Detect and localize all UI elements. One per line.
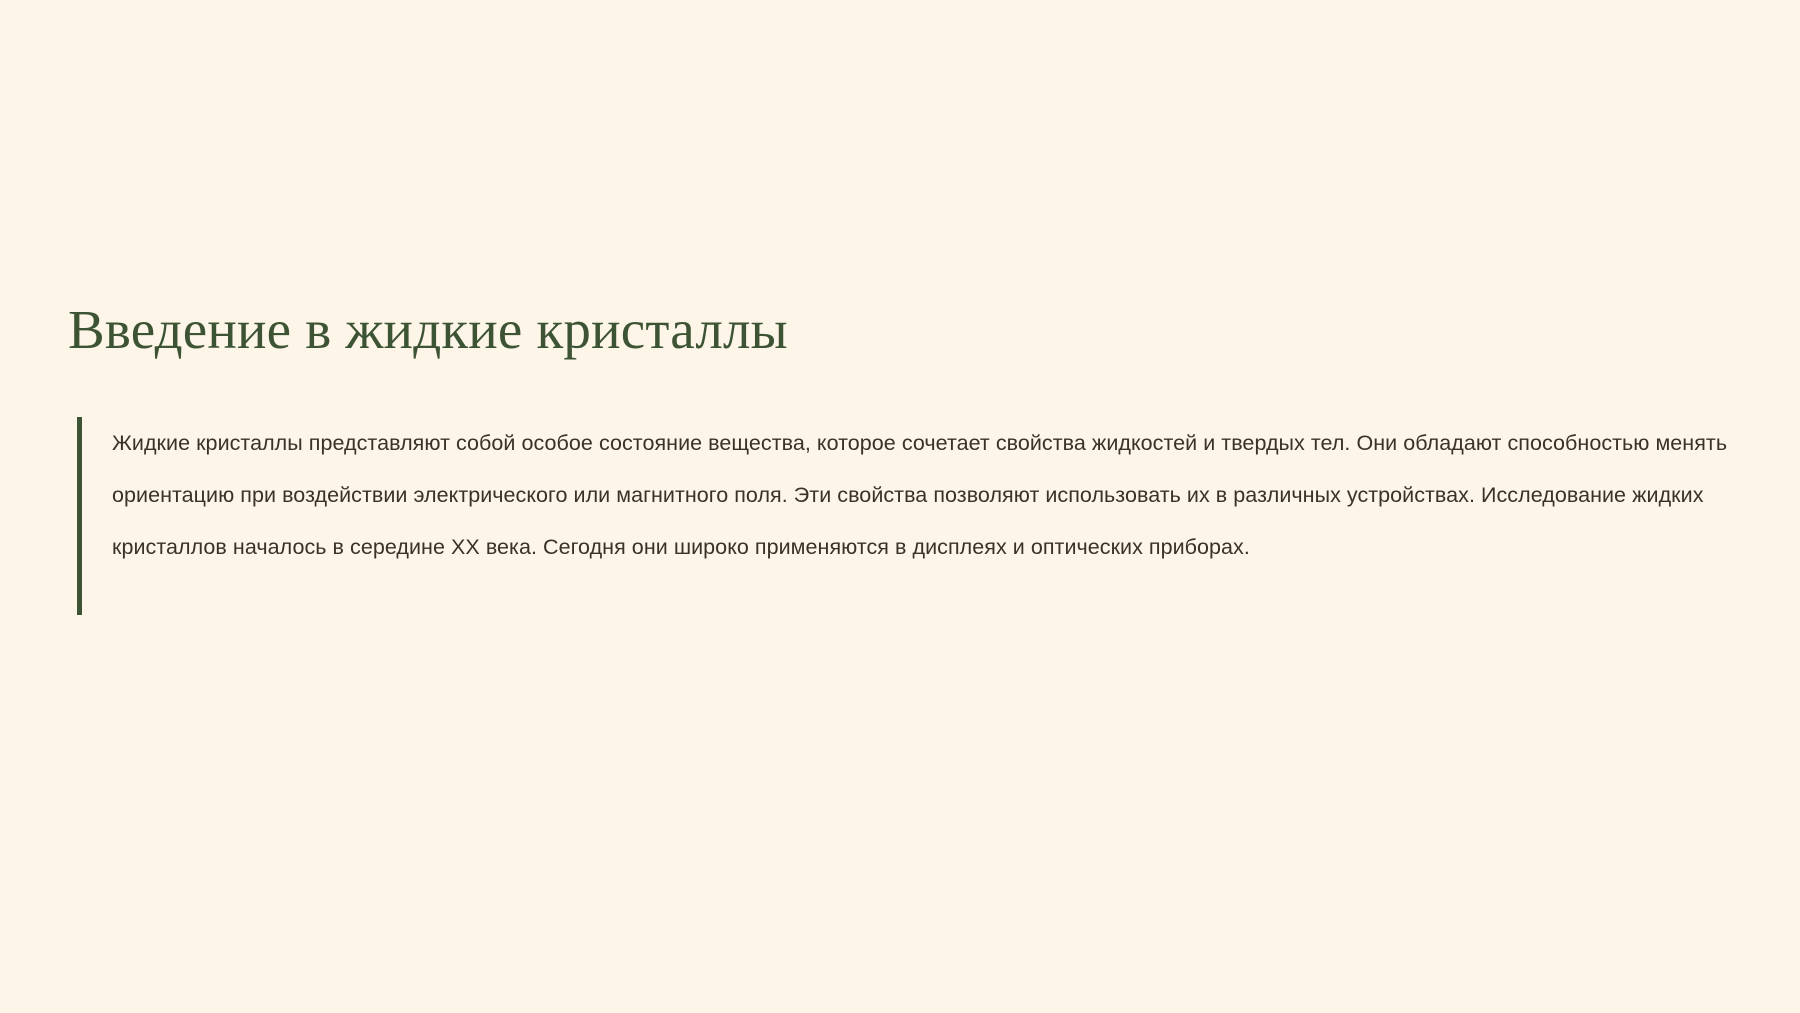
slide-content-block: Введение в жидкие кристаллы Жидкие крист…	[68, 298, 1728, 573]
accent-bar	[77, 417, 82, 615]
page-title: Введение в жидкие кристаллы	[68, 298, 1728, 363]
slide-canvas: Введение в жидкие кристаллы Жидкие крист…	[0, 0, 1800, 1013]
body-section: Жидкие кристаллы представляют собой особ…	[68, 417, 1728, 573]
body-paragraph: Жидкие кристаллы представляют собой особ…	[112, 417, 1728, 573]
